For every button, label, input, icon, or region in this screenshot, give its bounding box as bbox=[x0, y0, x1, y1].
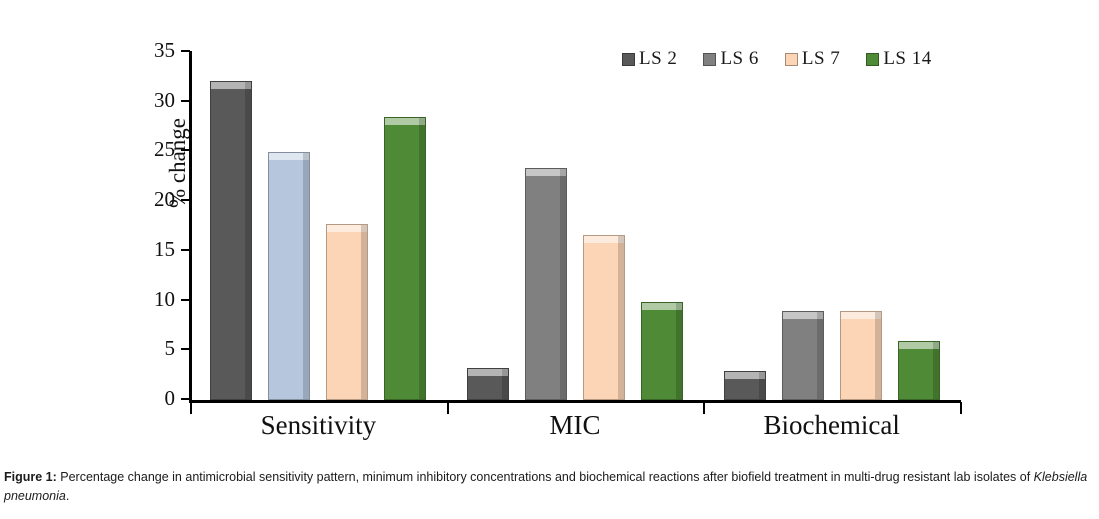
y-tick-label-35: 35 bbox=[154, 38, 175, 63]
y-tick-10: 10 bbox=[181, 299, 190, 301]
y-tick-30: 30 bbox=[181, 100, 190, 102]
bar-ls-6-sensitivity[interactable] bbox=[268, 152, 310, 400]
caption-label: Figure 1: bbox=[4, 470, 57, 484]
bars bbox=[190, 52, 447, 400]
y-tick-label-5: 5 bbox=[165, 336, 176, 361]
y-tick-label-0: 0 bbox=[165, 386, 176, 411]
y-tick-label-10: 10 bbox=[154, 287, 175, 312]
y-tick-label-30: 30 bbox=[154, 88, 175, 113]
bar-chart: LS 2 LS 6 LS 7 LS 14 % change 0510152025… bbox=[0, 0, 1099, 460]
y-tick-label-25: 25 bbox=[154, 137, 175, 162]
y-tick-35: 35 bbox=[181, 50, 190, 52]
bar-ls-6-mic[interactable] bbox=[525, 168, 567, 400]
x-axis-label-sensitivity: Sensitivity bbox=[190, 410, 447, 441]
bar-ls-14-mic[interactable] bbox=[641, 302, 683, 400]
y-tick-15: 15 bbox=[181, 249, 190, 251]
bar-groups: SensitivityMICBiochemical bbox=[190, 52, 960, 400]
y-tick-20: 20 bbox=[181, 199, 190, 201]
bar-group-biochemical: Biochemical bbox=[703, 52, 960, 400]
bar-ls-7-sensitivity[interactable] bbox=[326, 224, 368, 400]
bar-ls-6-biochemical[interactable] bbox=[782, 311, 824, 400]
y-tick-label-20: 20 bbox=[154, 187, 175, 212]
y-tick-0: 0 bbox=[181, 398, 190, 400]
bars bbox=[447, 52, 704, 400]
caption-text-before: Percentage change in antimicrobial sensi… bbox=[57, 470, 1034, 484]
plot-area: 05101520253035 SensitivityMICBiochemical bbox=[190, 52, 960, 400]
y-tick-5: 5 bbox=[181, 348, 190, 350]
figure-container: LS 2 LS 6 LS 7 LS 14 % change 0510152025… bbox=[0, 0, 1099, 519]
bar-ls-2-biochemical[interactable] bbox=[724, 371, 766, 400]
bars bbox=[703, 52, 960, 400]
x-tick-3 bbox=[960, 402, 962, 414]
bar-group-sensitivity: Sensitivity bbox=[190, 52, 447, 400]
bar-group-mic: MIC bbox=[447, 52, 704, 400]
x-axis-line bbox=[189, 400, 961, 403]
y-tick-label-15: 15 bbox=[154, 237, 175, 262]
y-tick-25: 25 bbox=[181, 149, 190, 151]
bar-ls-7-mic[interactable] bbox=[583, 235, 625, 400]
figure-caption: Figure 1: Percentage change in antimicro… bbox=[4, 468, 1094, 507]
x-axis-label-mic: MIC bbox=[447, 410, 704, 441]
bar-ls-2-mic[interactable] bbox=[467, 368, 509, 400]
caption-text-after: . bbox=[66, 489, 69, 503]
bar-ls-14-sensitivity[interactable] bbox=[384, 117, 426, 400]
bar-ls-14-biochemical[interactable] bbox=[898, 341, 940, 400]
bar-ls-2-sensitivity[interactable] bbox=[210, 81, 252, 400]
x-axis-label-biochemical: Biochemical bbox=[703, 410, 960, 441]
bar-ls-7-biochemical[interactable] bbox=[840, 311, 882, 400]
